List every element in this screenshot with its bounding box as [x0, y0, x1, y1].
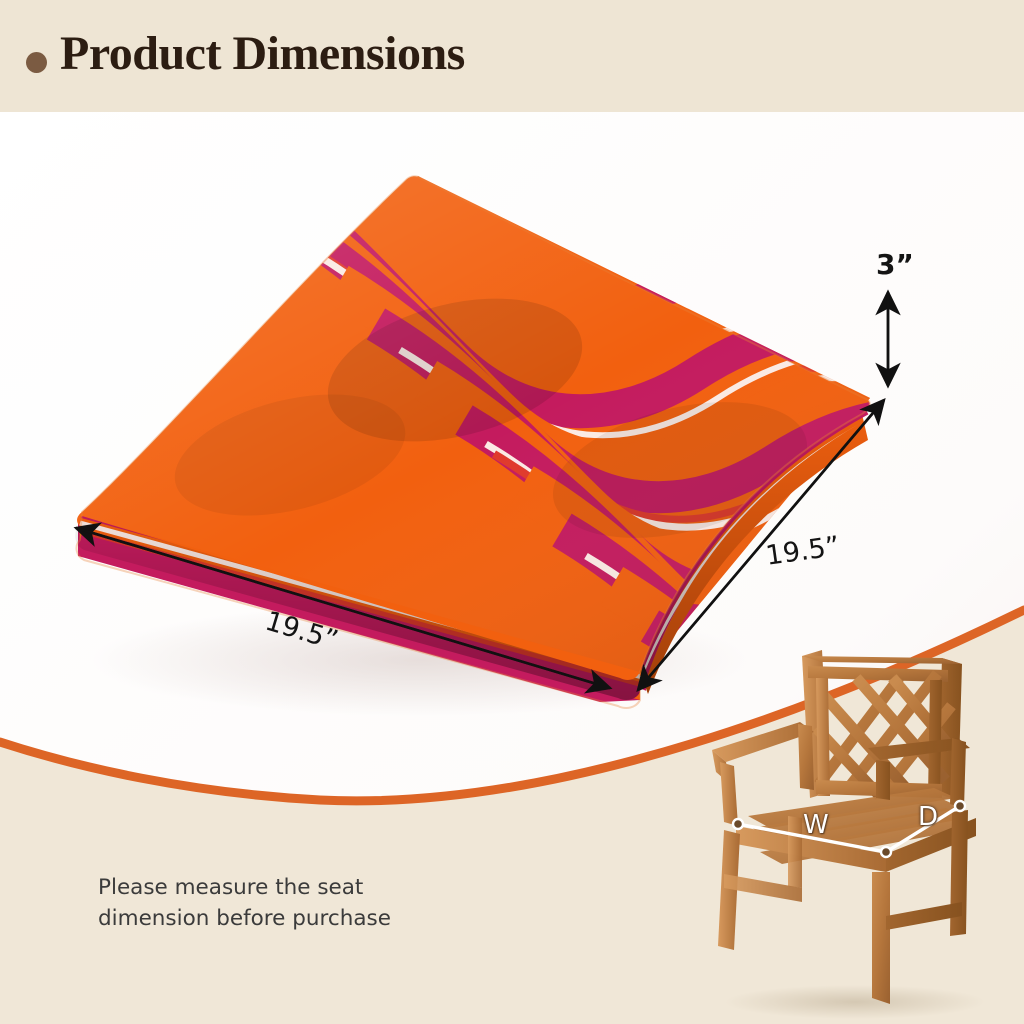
caption-line-1: Please measure the seat	[98, 872, 498, 903]
caption-line-2: dimension before purchase	[98, 903, 498, 934]
height-dimension-label: 3”	[876, 248, 914, 281]
dimension-line-width-arrow2	[76, 528, 610, 688]
product-dimensions-infographic: Product Dimensions	[0, 0, 1024, 1024]
garden-armchair-illustration	[690, 620, 1024, 1024]
chair-width-label: W	[803, 810, 829, 840]
chair-depth-label: D	[918, 802, 938, 832]
measure-instruction-caption: Please measure the seat dimension before…	[98, 872, 498, 934]
